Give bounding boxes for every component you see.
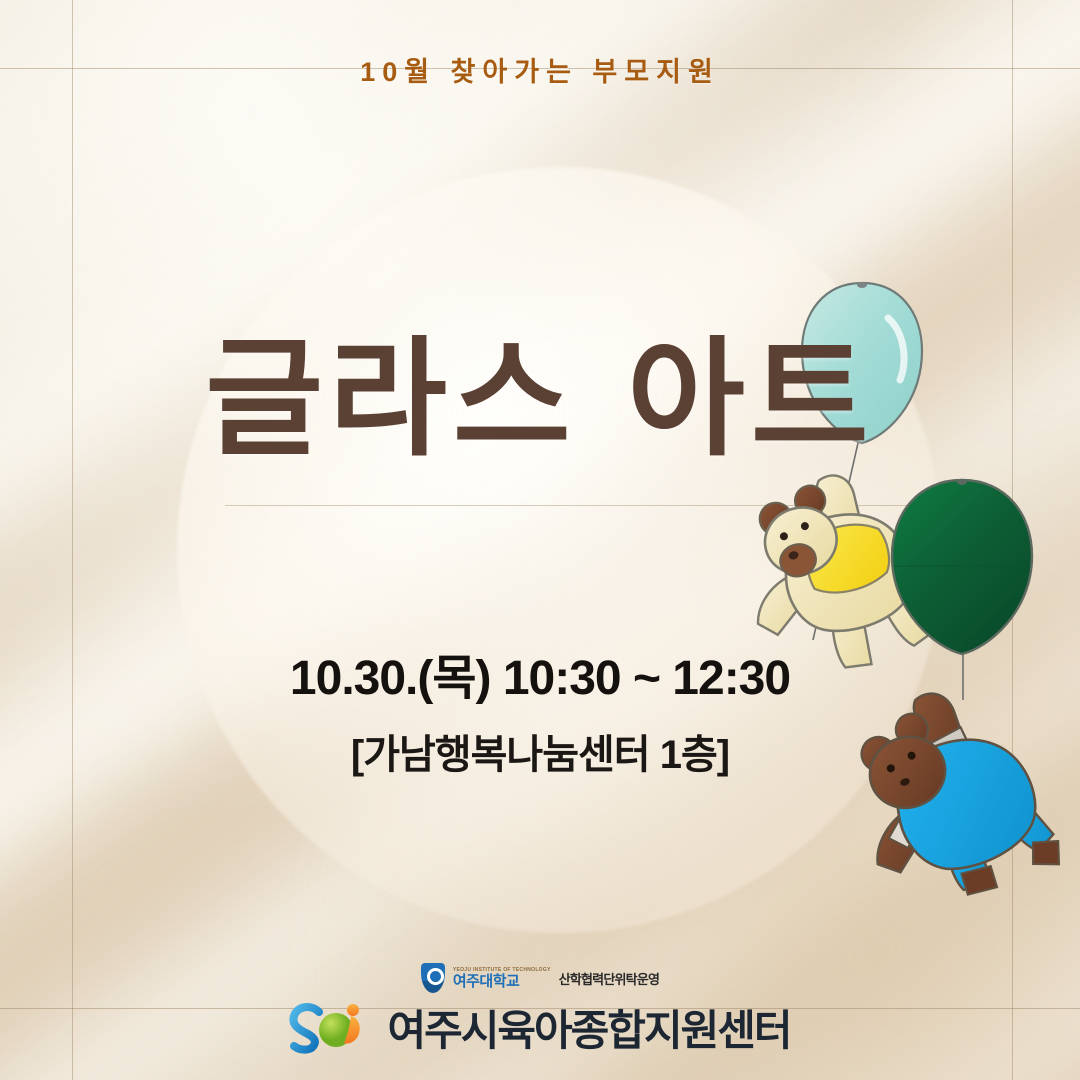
center-row: 여주시육아종합지원센터	[289, 997, 790, 1058]
center-name: 여주시육아종합지원센터	[387, 997, 790, 1058]
event-datetime: 10.30.(목) 10:30 ~ 12:30	[0, 638, 1080, 708]
footer: YEOJU INSTITUTE OF TECHNOLOGY 여주대학교 산학협력…	[0, 963, 1080, 1058]
university-name-kr: 여주대학교	[453, 974, 551, 989]
poster-canvas: 10월 찾아가는 부모지원 글라스 아트 10.30.(목) 10:30 ~ 1…	[0, 0, 1080, 1080]
university-row: YEOJU INSTITUTE OF TECHNOLOGY 여주대학교 산학협력…	[421, 963, 659, 993]
university-subtitle: 산학협력단위탁운영	[559, 969, 659, 988]
page-subheader: 10월 찾아가는 부모지원	[0, 50, 1080, 89]
background-circle	[177, 167, 943, 933]
university-name-block: YEOJU INSTITUTE OF TECHNOLOGY 여주대학교	[453, 968, 551, 989]
rule-vertical-left	[72, 0, 73, 1080]
rule-horizontal-middle	[225, 505, 935, 506]
page-title: 글라스 아트	[0, 332, 1080, 466]
university-name-en: YEOJU INSTITUTE OF TECHNOLOGY	[453, 968, 551, 973]
university-shield-icon	[421, 963, 445, 993]
event-venue: [가남행복나눔센터 1층]	[0, 722, 1080, 780]
rule-vertical-right	[1012, 0, 1013, 1080]
sc-logo-icon	[289, 1002, 375, 1054]
